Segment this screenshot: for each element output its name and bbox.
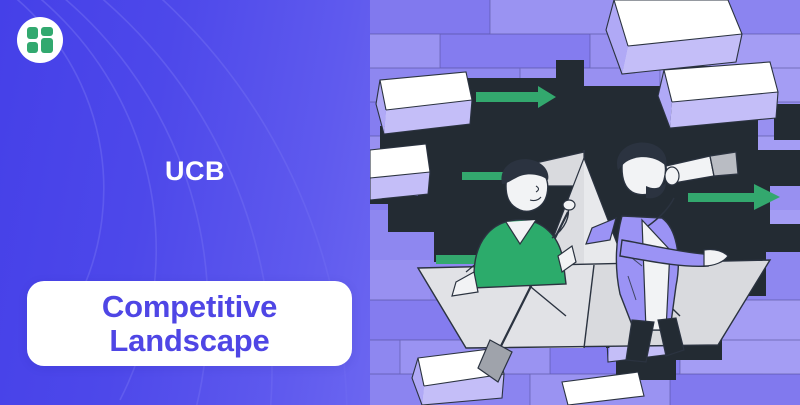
app-logo[interactable] [17, 17, 63, 63]
page-title: Competitive Landscape [102, 290, 277, 357]
flying-brick-right [658, 62, 778, 128]
left-panel: UCB Competitive Landscape [0, 0, 430, 405]
flying-brick-left-lower [370, 144, 430, 200]
slide-canvas: UCB Competitive Landscape [0, 0, 800, 405]
title-card: Competitive Landscape [27, 281, 352, 366]
flying-brick-top [606, 0, 742, 74]
brand-label: UCB [0, 156, 390, 187]
flying-brick-left [376, 72, 472, 134]
app-grid-logo-icon [27, 27, 53, 53]
hero-illustration [370, 0, 800, 405]
